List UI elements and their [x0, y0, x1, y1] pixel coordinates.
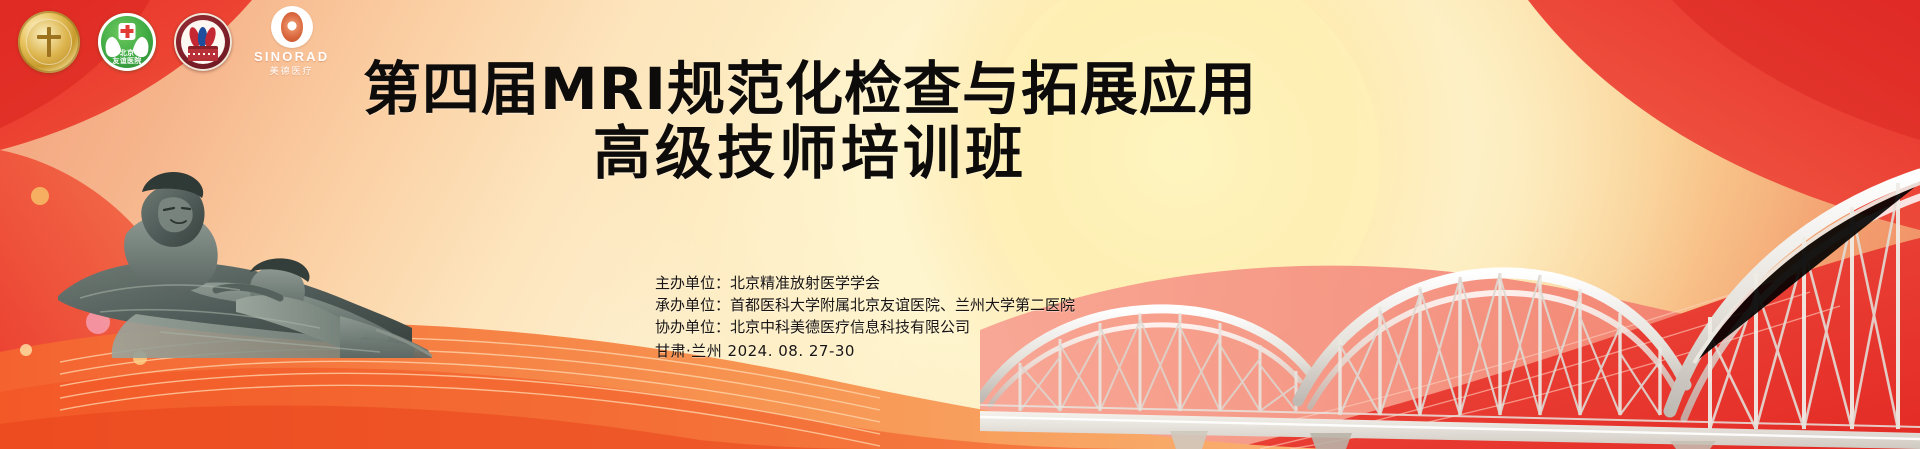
bridge-shapes	[980, 149, 1920, 449]
gate-building-icon	[188, 46, 218, 61]
sinorad-wordmark: SINORAD	[254, 50, 329, 64]
logo-row: 北京 友谊医院 SINORAD 美德医疗	[18, 6, 329, 77]
gold-emblem-cross-mark	[36, 27, 62, 57]
info-line-coorganizer: 协办单位：北京中科美德医疗信息科技有限公司	[655, 316, 1075, 338]
conference-banner: 北京 友谊医院 SINORAD 美德医疗 第四届MRI规范化检查与拓展应用 高级…	[0, 0, 1920, 449]
sinorad-logo: SINORAD 美德医疗	[254, 6, 329, 77]
organizer-info-block: 主办单位：北京精准放射医学学会 承办单位：首都医科大学附属北京友谊医院、兰州大学…	[655, 272, 1075, 362]
sinorad-wordmark-cn: 美德医疗	[270, 66, 314, 77]
page-subtitle: 高级技师培训班	[170, 120, 1450, 186]
gold-medal-emblem-logo	[18, 11, 80, 73]
medical-cross-icon	[119, 23, 136, 40]
hospital-logo-line2: 友谊医院	[112, 58, 141, 65]
info-line-host: 主办单位：北京精准放射医学学会	[655, 272, 1075, 294]
page-title: 第四届MRI规范化检查与拓展应用	[170, 58, 1450, 120]
ribbon-icon	[190, 27, 216, 47]
sinorad-eye-icon	[271, 6, 313, 48]
zhongshan-iron-bridge-illustration	[980, 149, 1920, 449]
info-line-location-date: 甘肃·兰州 2024. 08. 27-30	[655, 340, 1075, 362]
hospital-logo-text: 北京 友谊医院	[98, 50, 156, 66]
lanzhou-university-second-hospital-logo	[174, 13, 232, 71]
hospital-logo-line1: 北京	[120, 50, 135, 57]
beijing-friendship-hospital-logo: 北京 友谊医院	[98, 13, 156, 71]
banner-titles: 第四届MRI规范化检查与拓展应用 高级技师培训班	[0, 58, 1920, 186]
info-line-organizer: 承办单位：首都医科大学附属北京友谊医院、兰州大学第二医院	[655, 294, 1075, 316]
